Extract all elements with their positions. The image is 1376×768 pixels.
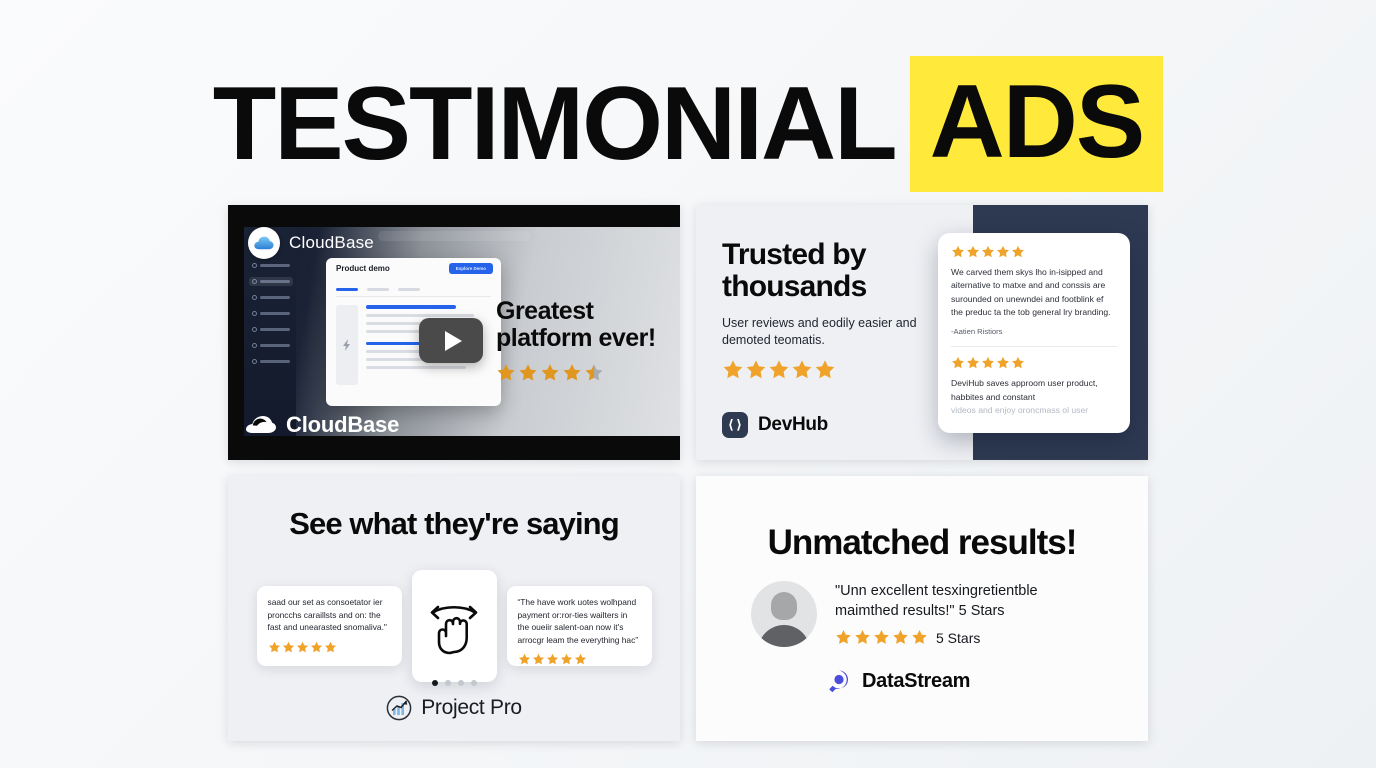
avatar-head (771, 592, 797, 620)
star-rating: 5 Stars (835, 629, 1080, 646)
star-icon (268, 641, 281, 654)
star-rating (951, 245, 1117, 259)
ad-card-projectpro-carousel[interactable]: See what they're saying saad our set as … (228, 476, 680, 741)
sidebar-dot-icon (252, 295, 257, 300)
testimonial-block: "Unn excellent tesхingretientble maimthe… (751, 581, 1080, 647)
sidebar-dot-icon (252, 327, 257, 332)
card-headline: Unmatched results! (696, 523, 1148, 563)
star-icon (310, 641, 323, 654)
star-rating (268, 641, 391, 654)
ad-card-grid: CloudBase Product demo Explore Demo (228, 205, 1148, 740)
mockup-title: Product demo (336, 264, 390, 273)
testimonial-text: “The have work uotes wolhpand payment or… (518, 596, 641, 646)
mock-app-topbar (378, 231, 530, 241)
star-icon (768, 359, 790, 381)
review-author: -Aatien Ristiors (951, 327, 1117, 336)
star-icon (282, 641, 295, 654)
datastream-circle-icon (826, 668, 852, 694)
card-headline: Greatest platform ever! (496, 298, 671, 352)
card-copy-block: Trusted by thousands User reviews and eo… (722, 239, 937, 381)
sidebar-dot-icon (252, 359, 257, 364)
star-icon (966, 245, 980, 259)
quote-block: "Unn excellent tesхingretientble maimthe… (835, 581, 1080, 646)
testimonial-card[interactable]: saad our set as consoetator ier proncchs… (257, 586, 402, 666)
code-brackets-icon: ⟨⟩ (722, 412, 748, 438)
star-icon (296, 641, 309, 654)
star-icon (873, 629, 890, 646)
star-icon (496, 363, 516, 383)
brand-name-bottom: CloudBase (286, 412, 399, 438)
star-icon (981, 245, 995, 259)
star-icon (540, 363, 560, 383)
carousel-dot[interactable] (458, 680, 464, 686)
star-icon (814, 359, 836, 381)
brand-lockup: Project Pro (228, 695, 680, 721)
bolt-icon (343, 339, 351, 351)
title-highlight-text: ADS (910, 56, 1164, 192)
star-rating (722, 359, 937, 381)
brand-name: Project Pro (421, 696, 522, 720)
mockup-tab-divider (336, 296, 491, 297)
ad-card-cloudbase-video[interactable]: CloudBase Product demo Explore Demo (228, 205, 680, 460)
mockup-side-panel (336, 305, 358, 385)
carousel-dot[interactable] (471, 680, 477, 686)
star-icon (911, 629, 928, 646)
star-icon (324, 641, 337, 654)
brand-name: DataStream (862, 670, 970, 693)
star-rating (518, 653, 641, 666)
star-icon (835, 629, 852, 646)
star-icon (518, 363, 538, 383)
mockup-header: Product demo Explore Demo (326, 258, 501, 283)
product-demo-mockup: Product demo Explore Demo (326, 258, 501, 406)
star-icon (996, 356, 1010, 370)
review-panel[interactable]: We carved them skys lho in-isipped and a… (938, 233, 1130, 433)
video-ad-stage: CloudBase Product demo Explore Demo (228, 205, 680, 460)
sidebar-dot-icon (252, 343, 257, 348)
brand-lockup-top: CloudBase (248, 227, 374, 259)
star-icon (1011, 356, 1025, 370)
sidebar-dot-icon (252, 263, 257, 268)
card-headline: See what they're saying (228, 506, 680, 542)
cloud-icon (246, 415, 276, 435)
star-rating (496, 363, 604, 383)
star-icon (996, 245, 1010, 259)
testimonial-quote: "Unn excellent tesхingretientble maimthe… (835, 581, 1080, 621)
ad-card-devhub-trusted[interactable]: Trusted by thousands User reviews and eo… (696, 205, 1148, 460)
star-icon (562, 363, 582, 383)
star-icon (951, 356, 965, 370)
star-icon (546, 653, 559, 666)
brand-lockup: ⟨⟩ DevHub (722, 412, 828, 438)
brand-name-top: CloudBase (289, 233, 374, 253)
star-icon (854, 629, 871, 646)
brand-lockup: DataStream (826, 668, 970, 694)
star-icon (966, 356, 980, 370)
mockup-tab-active[interactable] (336, 288, 358, 291)
rating-label: 5 Stars (936, 630, 980, 646)
star-icon (892, 629, 909, 646)
mockup-tabs[interactable] (336, 288, 420, 291)
review-text: DeviHub saves approom user product, habb… (951, 377, 1117, 404)
sidebar-dot-icon (252, 279, 257, 284)
review-text: We carved them skys lho in-isipped and a… (951, 266, 1117, 319)
star-half-icon (584, 363, 604, 383)
carousel-dots[interactable] (228, 680, 680, 686)
user-avatar-icon (751, 581, 817, 647)
title-main-text: TESTIMONIAL (213, 72, 896, 176)
testimonial-text: saad our set as consoetator ier proncchs… (268, 596, 391, 634)
star-rating (951, 356, 1117, 370)
star-icon (560, 653, 573, 666)
carousel-dot-active[interactable] (432, 680, 438, 686)
carousel-dot[interactable] (445, 680, 451, 686)
mockup-tab[interactable] (398, 288, 420, 291)
card-subtext: User reviews and eodily easier and demot… (722, 315, 937, 350)
mockup-cta-button[interactable]: Explore Demo (449, 263, 493, 274)
carousel-track[interactable]: saad our set as consoetator ier proncchs… (228, 570, 680, 682)
poster-canvas: TESTIMONIAL ADS (0, 0, 1376, 768)
brand-name: DevHub (758, 414, 828, 436)
star-icon (532, 653, 545, 666)
star-icon (745, 359, 767, 381)
divider (951, 346, 1117, 347)
page-title: TESTIMONIAL ADS (0, 56, 1376, 192)
review-text-faded: videos and enjoy oroncmass ol user (951, 404, 1117, 417)
star-icon (981, 356, 995, 370)
growth-chart-icon (386, 695, 412, 721)
mockup-tab[interactable] (367, 288, 389, 291)
card-headline: Trusted by thousands (722, 239, 937, 303)
star-icon (518, 653, 531, 666)
star-icon (951, 245, 965, 259)
star-icon (791, 359, 813, 381)
play-icon[interactable] (419, 318, 483, 363)
cloud-icon (248, 227, 280, 259)
brand-lockup-bottom: CloudBase (246, 412, 399, 438)
ad-card-datastream-results[interactable]: Unmatched results! "Unn excellent tesхin… (696, 476, 1148, 741)
sidebar-dot-icon (252, 311, 257, 316)
star-icon (1011, 245, 1025, 259)
testimonial-card[interactable]: “The have work uotes wolhpand payment or… (507, 586, 652, 666)
star-icon (722, 359, 744, 381)
avatar-shoulders (758, 625, 810, 647)
star-icon (574, 653, 587, 666)
swipe-hand-icon[interactable] (412, 570, 497, 682)
